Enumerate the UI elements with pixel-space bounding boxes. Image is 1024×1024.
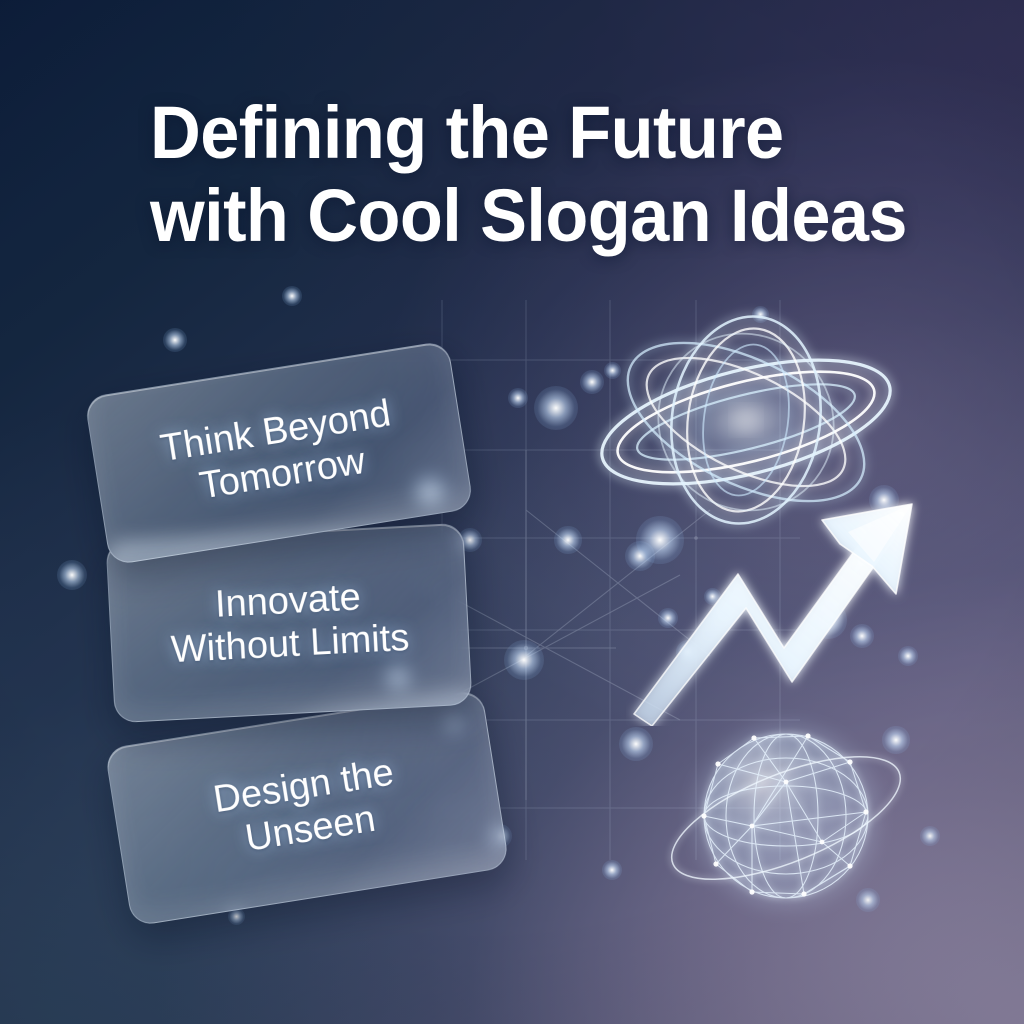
slogan-card-3-text: Design the Unseen	[171, 745, 443, 871]
page-title-line-2: with Cool Slogan Ideas	[150, 175, 929, 258]
poster-canvas: Defining the Future with Cool Slogan Ide…	[0, 0, 1024, 1024]
slogan-card-2-text: Innovate Without Limits	[128, 571, 451, 674]
page-title-line-1: Defining the Future	[150, 92, 929, 175]
slogan-card-1-text: Think Beyond Tomorrow	[118, 386, 440, 520]
page-title: Defining the Future with Cool Slogan Ide…	[150, 92, 929, 258]
slogan-card-2-line-2: Without Limits	[150, 616, 430, 673]
